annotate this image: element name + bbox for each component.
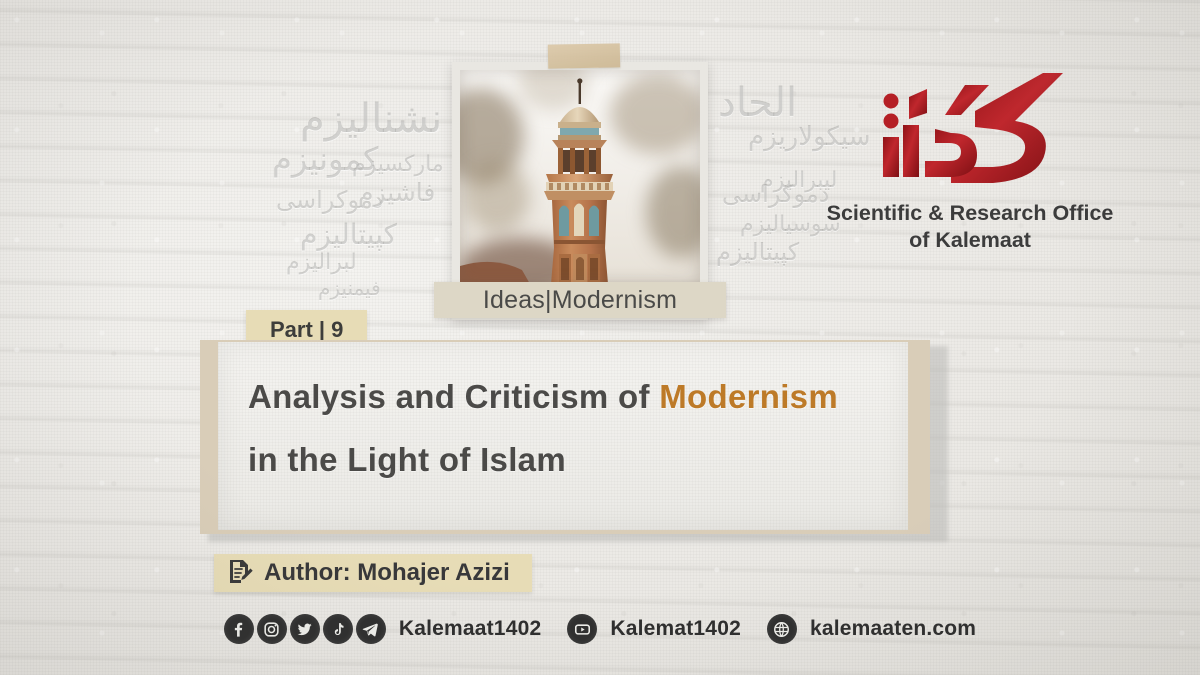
watermark-word: مارکسیزم — [352, 152, 444, 177]
instagram-icon[interactable] — [257, 614, 287, 644]
social-handle-label[interactable]: Kalemat1402 — [610, 617, 741, 641]
tiktok-icon[interactable] — [323, 614, 353, 644]
watermark-word: فاشیزم — [358, 178, 435, 207]
social-icon-list — [224, 614, 389, 644]
poster-canvas: نشنالیزمکمونیزممارکسیزمدموکراسیفاشیزمکپی… — [0, 0, 1200, 675]
watermark-word: لبرالیزم — [286, 250, 357, 275]
watermark-word: نشنالیزم — [300, 96, 442, 142]
brand-name-line2: of Kalemaat — [800, 227, 1140, 254]
kalemaat-calligraphy-icon — [865, 67, 1075, 195]
facebook-icon[interactable] — [224, 614, 254, 644]
title-text: Analysis and Criticism of Modernism in t… — [248, 380, 916, 506]
watermark-word: کپیتالیزم — [716, 238, 799, 266]
category-caption: Ideas|Modernism — [434, 282, 726, 318]
social-group: Kalemaat1402 — [224, 614, 568, 644]
telegram-icon[interactable] — [356, 614, 386, 644]
title-panel: Analysis and Criticism of Modernism in t… — [196, 336, 936, 536]
watermark-word: الحاد — [718, 80, 797, 126]
title-line-1: Analysis and Criticism of Modernism — [248, 380, 916, 413]
website-icon[interactable] — [767, 614, 797, 644]
kalemaat-logo-icon — [800, 66, 1140, 196]
social-icon-list — [567, 614, 600, 644]
document-pencil-icon — [226, 557, 254, 590]
watermark-word: کمونیزم — [272, 140, 378, 178]
author-label: Author: Mohajer Azizi — [264, 559, 510, 587]
watermark-word: کپیتالیزم — [300, 218, 397, 251]
brand-name-line1: Scientific & Research Office — [800, 200, 1140, 227]
youtube-icon[interactable] — [567, 614, 597, 644]
title-line-1-prefix: Analysis and Criticism of — [248, 378, 659, 415]
social-bar: Kalemaat1402Kalemat1402kalemaaten.com — [0, 614, 1200, 644]
social-handle-label[interactable]: kalemaaten.com — [810, 617, 976, 641]
brand-logo-block: Scientific & Research Office of Kalemaat — [800, 66, 1140, 254]
title-highlight-word: Modernism — [659, 378, 838, 415]
social-group: kalemaaten.com — [767, 614, 976, 644]
minaret-photo — [460, 70, 700, 284]
brand-name: Scientific & Research Office of Kalemaat — [800, 200, 1140, 254]
social-group: Kalemat1402 — [567, 614, 767, 644]
watermark-word: دموکراسی — [276, 186, 383, 214]
category-caption-label: Ideas|Modernism — [483, 286, 677, 315]
author-strip: Author: Mohajer Azizi — [214, 554, 532, 592]
social-icon-list — [767, 614, 800, 644]
watermark-word: فیمنیزم — [318, 276, 381, 300]
twitter-icon[interactable] — [290, 614, 320, 644]
title-line-2: in the Light of Islam — [248, 443, 916, 476]
tape-strip-icon — [548, 43, 620, 68]
social-handle-label[interactable]: Kalemaat1402 — [399, 617, 542, 641]
